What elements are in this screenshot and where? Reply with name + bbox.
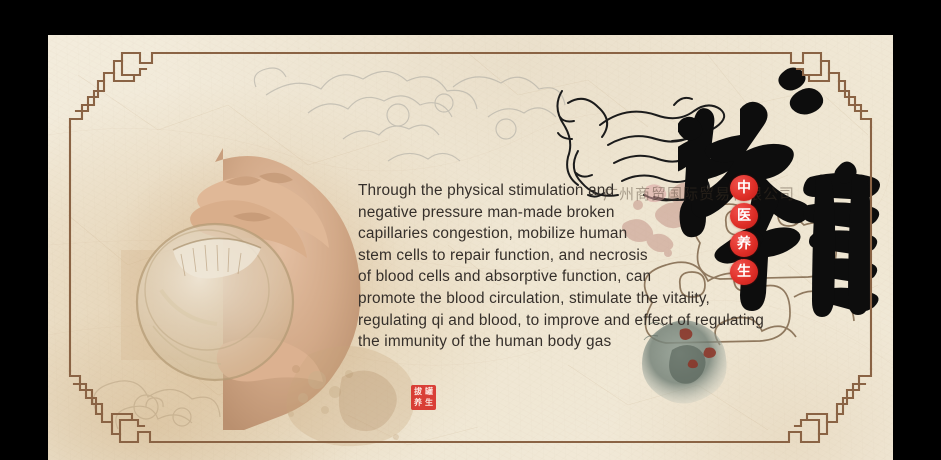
description-text: Through the physical stimulation and neg… [358, 180, 818, 353]
description-line: of blood cells and absorptive function, … [358, 266, 818, 288]
square-seal-char-4: 生 [424, 398, 434, 408]
square-seal-char-1: 拔 [413, 387, 423, 397]
banner-stage: 广州商贸国际贸易有限公司 中 医 养 生 拔 罐 养 生 Through the… [0, 0, 941, 460]
cloud-motif-icon-top [248, 43, 668, 193]
description-line: promote the blood circulation, stimulate… [358, 288, 818, 310]
description-line: stem cells to repair function, and necro… [358, 245, 818, 267]
description-line: regulating qi and blood, to improve and … [358, 310, 818, 332]
square-seal-stamp: 拔 罐 养 生 [411, 385, 436, 410]
description-line: the immunity of the human body gas [358, 331, 818, 353]
description-line: Through the physical stimulation and [358, 180, 818, 202]
parchment-panel: 广州商贸国际贸易有限公司 中 医 养 生 拔 罐 养 生 Through the… [48, 35, 893, 460]
cloud-motif-icon-bottom-left [58, 345, 288, 460]
sepia-smudge [278, 335, 458, 455]
description-line: capillaries congestion, mobilize human [358, 223, 818, 245]
square-seal-char-2: 罐 [424, 387, 434, 397]
description-line: negative pressure man-made broken [358, 202, 818, 224]
square-seal-char-3: 养 [413, 398, 423, 408]
